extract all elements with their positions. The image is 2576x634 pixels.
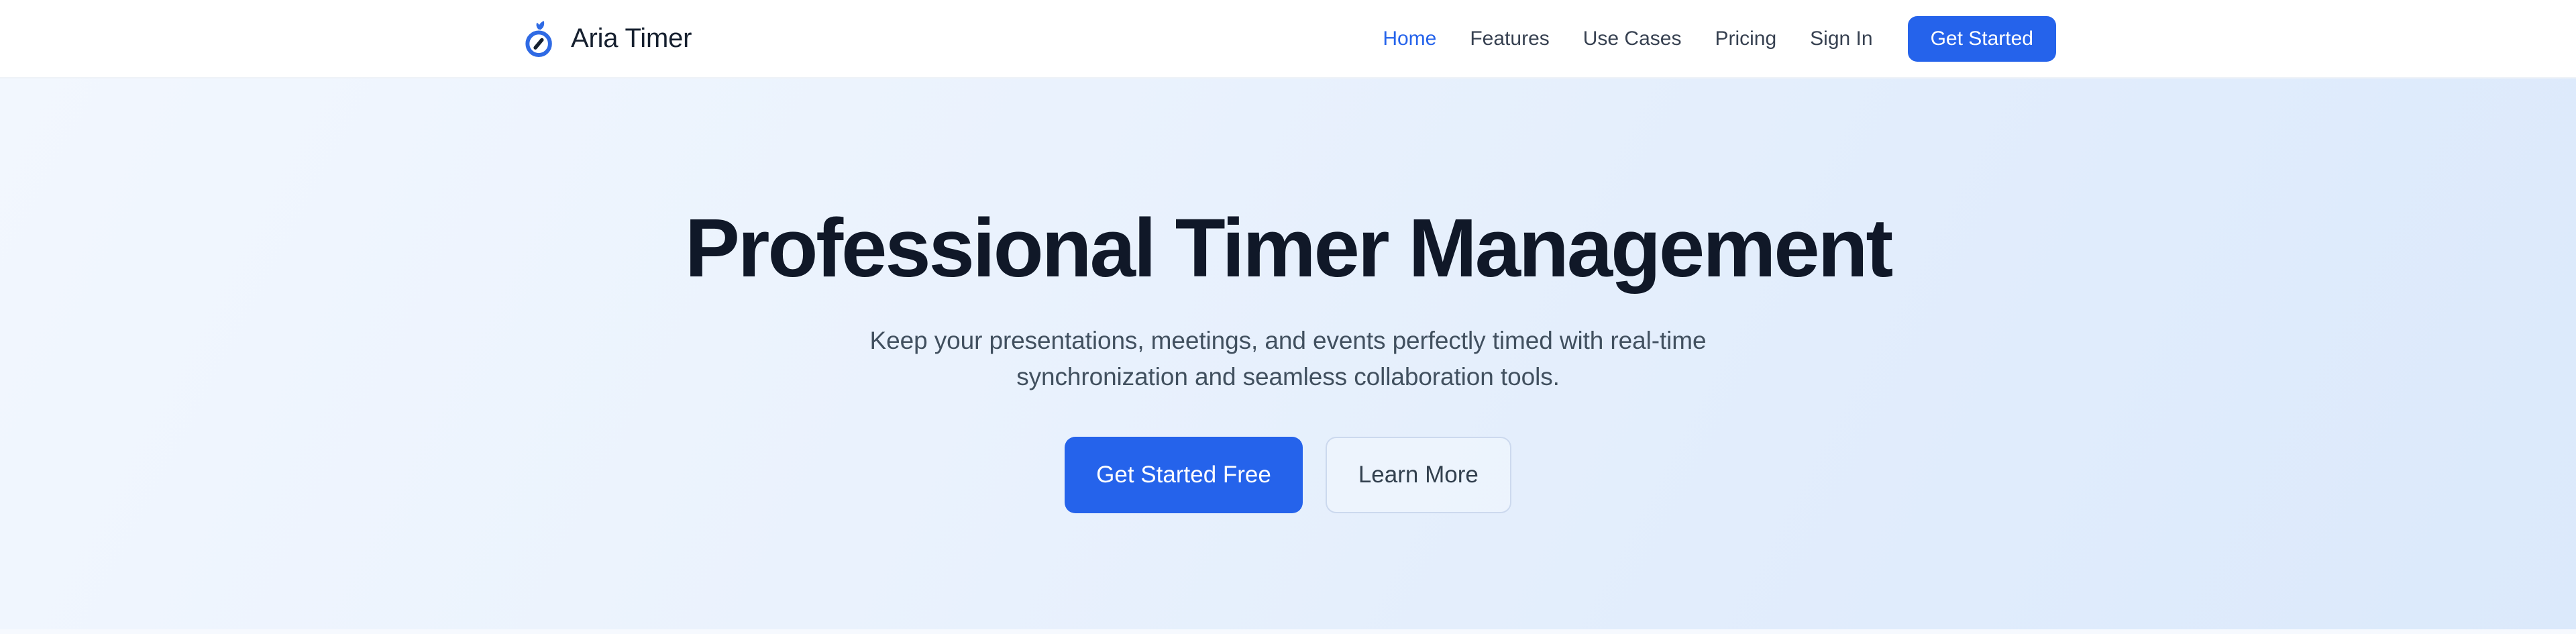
nav-item-features[interactable]: Features xyxy=(1453,29,1566,49)
hero-section: Professional Timer Management Keep your … xyxy=(0,78,2576,634)
brand-name: Aria Timer xyxy=(571,23,692,54)
hero-cta-group: Get Started Free Learn More xyxy=(0,437,2576,513)
hero-bottom-strip xyxy=(0,629,2576,634)
learn-more-button[interactable]: Learn More xyxy=(1326,437,1511,513)
header-container: Aria Timer Home Features Use Cases Prici… xyxy=(520,0,2056,77)
hero-title: Professional Timer Management xyxy=(0,206,2576,292)
landing-page: Aria Timer Home Features Use Cases Prici… xyxy=(0,0,2576,634)
hero-content: Professional Timer Management Keep your … xyxy=(0,78,2576,513)
nav-item-pricing[interactable]: Pricing xyxy=(1698,29,1793,49)
brand-logo-link[interactable]: Aria Timer xyxy=(520,19,692,58)
get-started-free-button[interactable]: Get Started Free xyxy=(1065,437,1303,513)
main-nav: Home Features Use Cases Pricing Sign In … xyxy=(1366,16,2056,62)
nav-item-use-cases[interactable]: Use Cases xyxy=(1566,29,1699,49)
stopwatch-icon xyxy=(520,19,559,58)
site-header: Aria Timer Home Features Use Cases Prici… xyxy=(0,0,2576,78)
hero-subtitle: Keep your presentations, meetings, and e… xyxy=(812,323,1764,395)
header-get-started-button[interactable]: Get Started xyxy=(1908,16,2056,62)
nav-item-home[interactable]: Home xyxy=(1366,29,1453,49)
nav-item-sign-in[interactable]: Sign In xyxy=(1793,29,1889,49)
